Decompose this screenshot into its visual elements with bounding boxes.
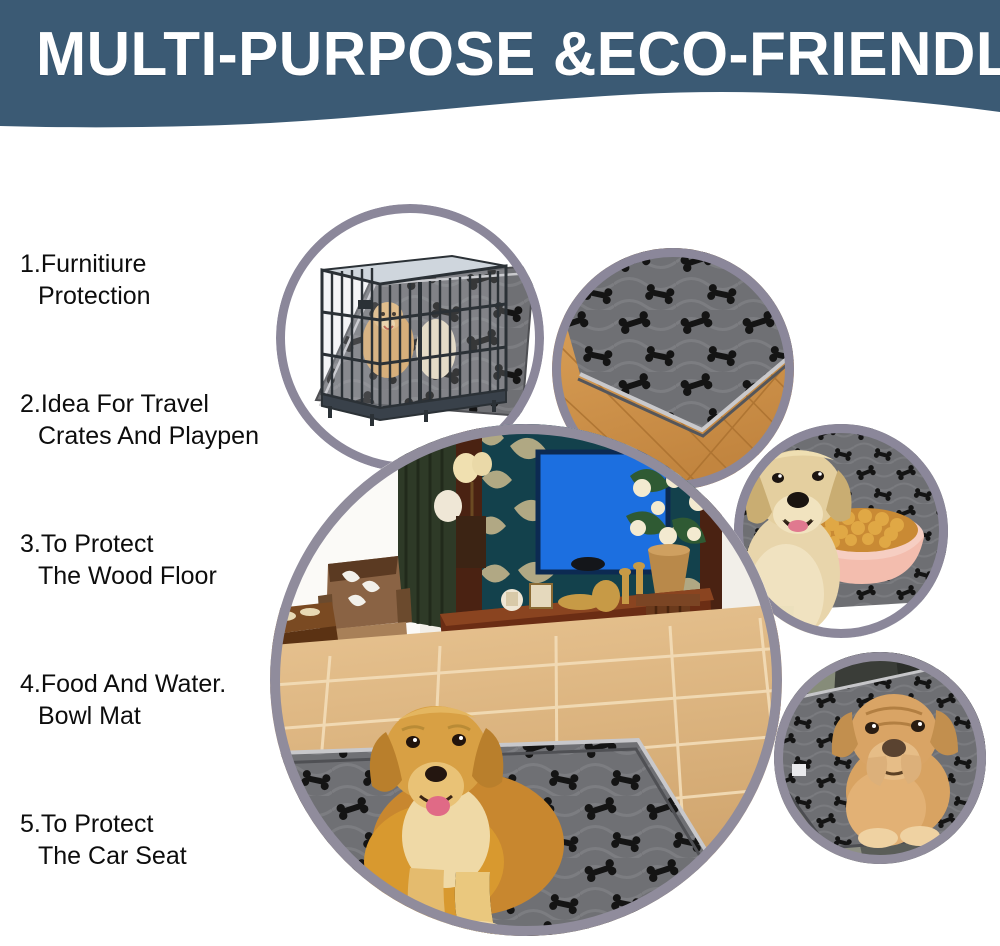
photo-collage [0, 0, 1000, 946]
circle-car-seat-photo [774, 652, 986, 864]
infographic-page: MULTI-PURPOSE &ECO-FRIENDLY MAT 1.Furnit… [0, 0, 1000, 946]
living-room-scene [270, 424, 782, 936]
mat-strap-buckle [792, 764, 806, 776]
car-seat-scene [774, 652, 986, 864]
circle-living-room-photo [270, 424, 782, 936]
dog-crate [322, 256, 506, 426]
